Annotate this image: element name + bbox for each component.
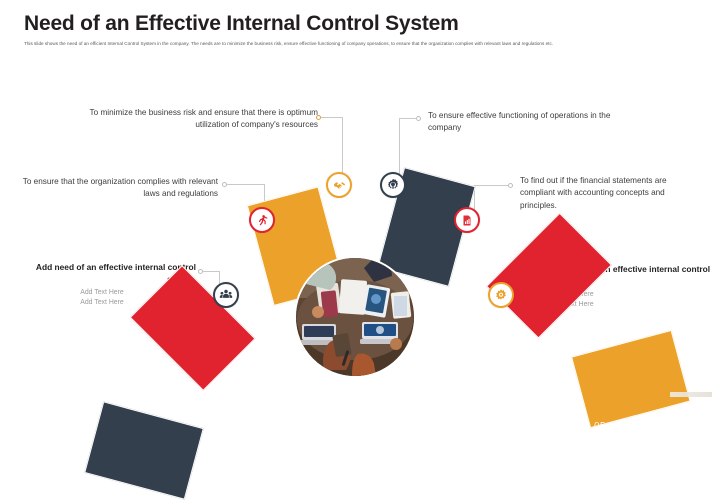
connector-line-minimize-risk-h [321, 117, 343, 118]
slide-canvas: Need of an Effective Internal Control Sy… [0, 0, 720, 404]
gear-lightbulb-icon[interactable] [380, 172, 406, 198]
callout-minimize-risk: To minimize the business risk and ensure… [56, 107, 318, 132]
callout-financial-statements: To find out if the financial statements … [520, 175, 702, 212]
fan-segment-01-number: 01 [416, 463, 428, 474]
slide-subtitle: This slide shows the need of an efficien… [24, 40, 694, 47]
callout-effective-operations: To ensure effective functioning of opera… [428, 110, 628, 135]
document-chart-icon[interactable] [454, 207, 480, 233]
team-meeting-laptops-photo [294, 256, 416, 378]
handshake-icon[interactable] [326, 172, 352, 198]
fan-segment-06-number: 06 [622, 463, 634, 474]
person-running-icon[interactable] [249, 207, 275, 233]
gear-flower-icon[interactable] [488, 282, 514, 308]
fan-segment-05-number: 05 [594, 421, 606, 432]
fan-segment-02-number: 02 [444, 421, 456, 432]
callout-comply-laws: To ensure that the organization complies… [18, 176, 218, 201]
footer-mark [670, 392, 712, 397]
editable-block-right-line2[interactable]: Add Text Here [550, 300, 720, 310]
people-group-icon[interactable] [213, 282, 239, 308]
connector-line-effective-operations-h [399, 118, 417, 119]
page-title: Need of an Effective Internal Control Sy… [24, 12, 459, 36]
